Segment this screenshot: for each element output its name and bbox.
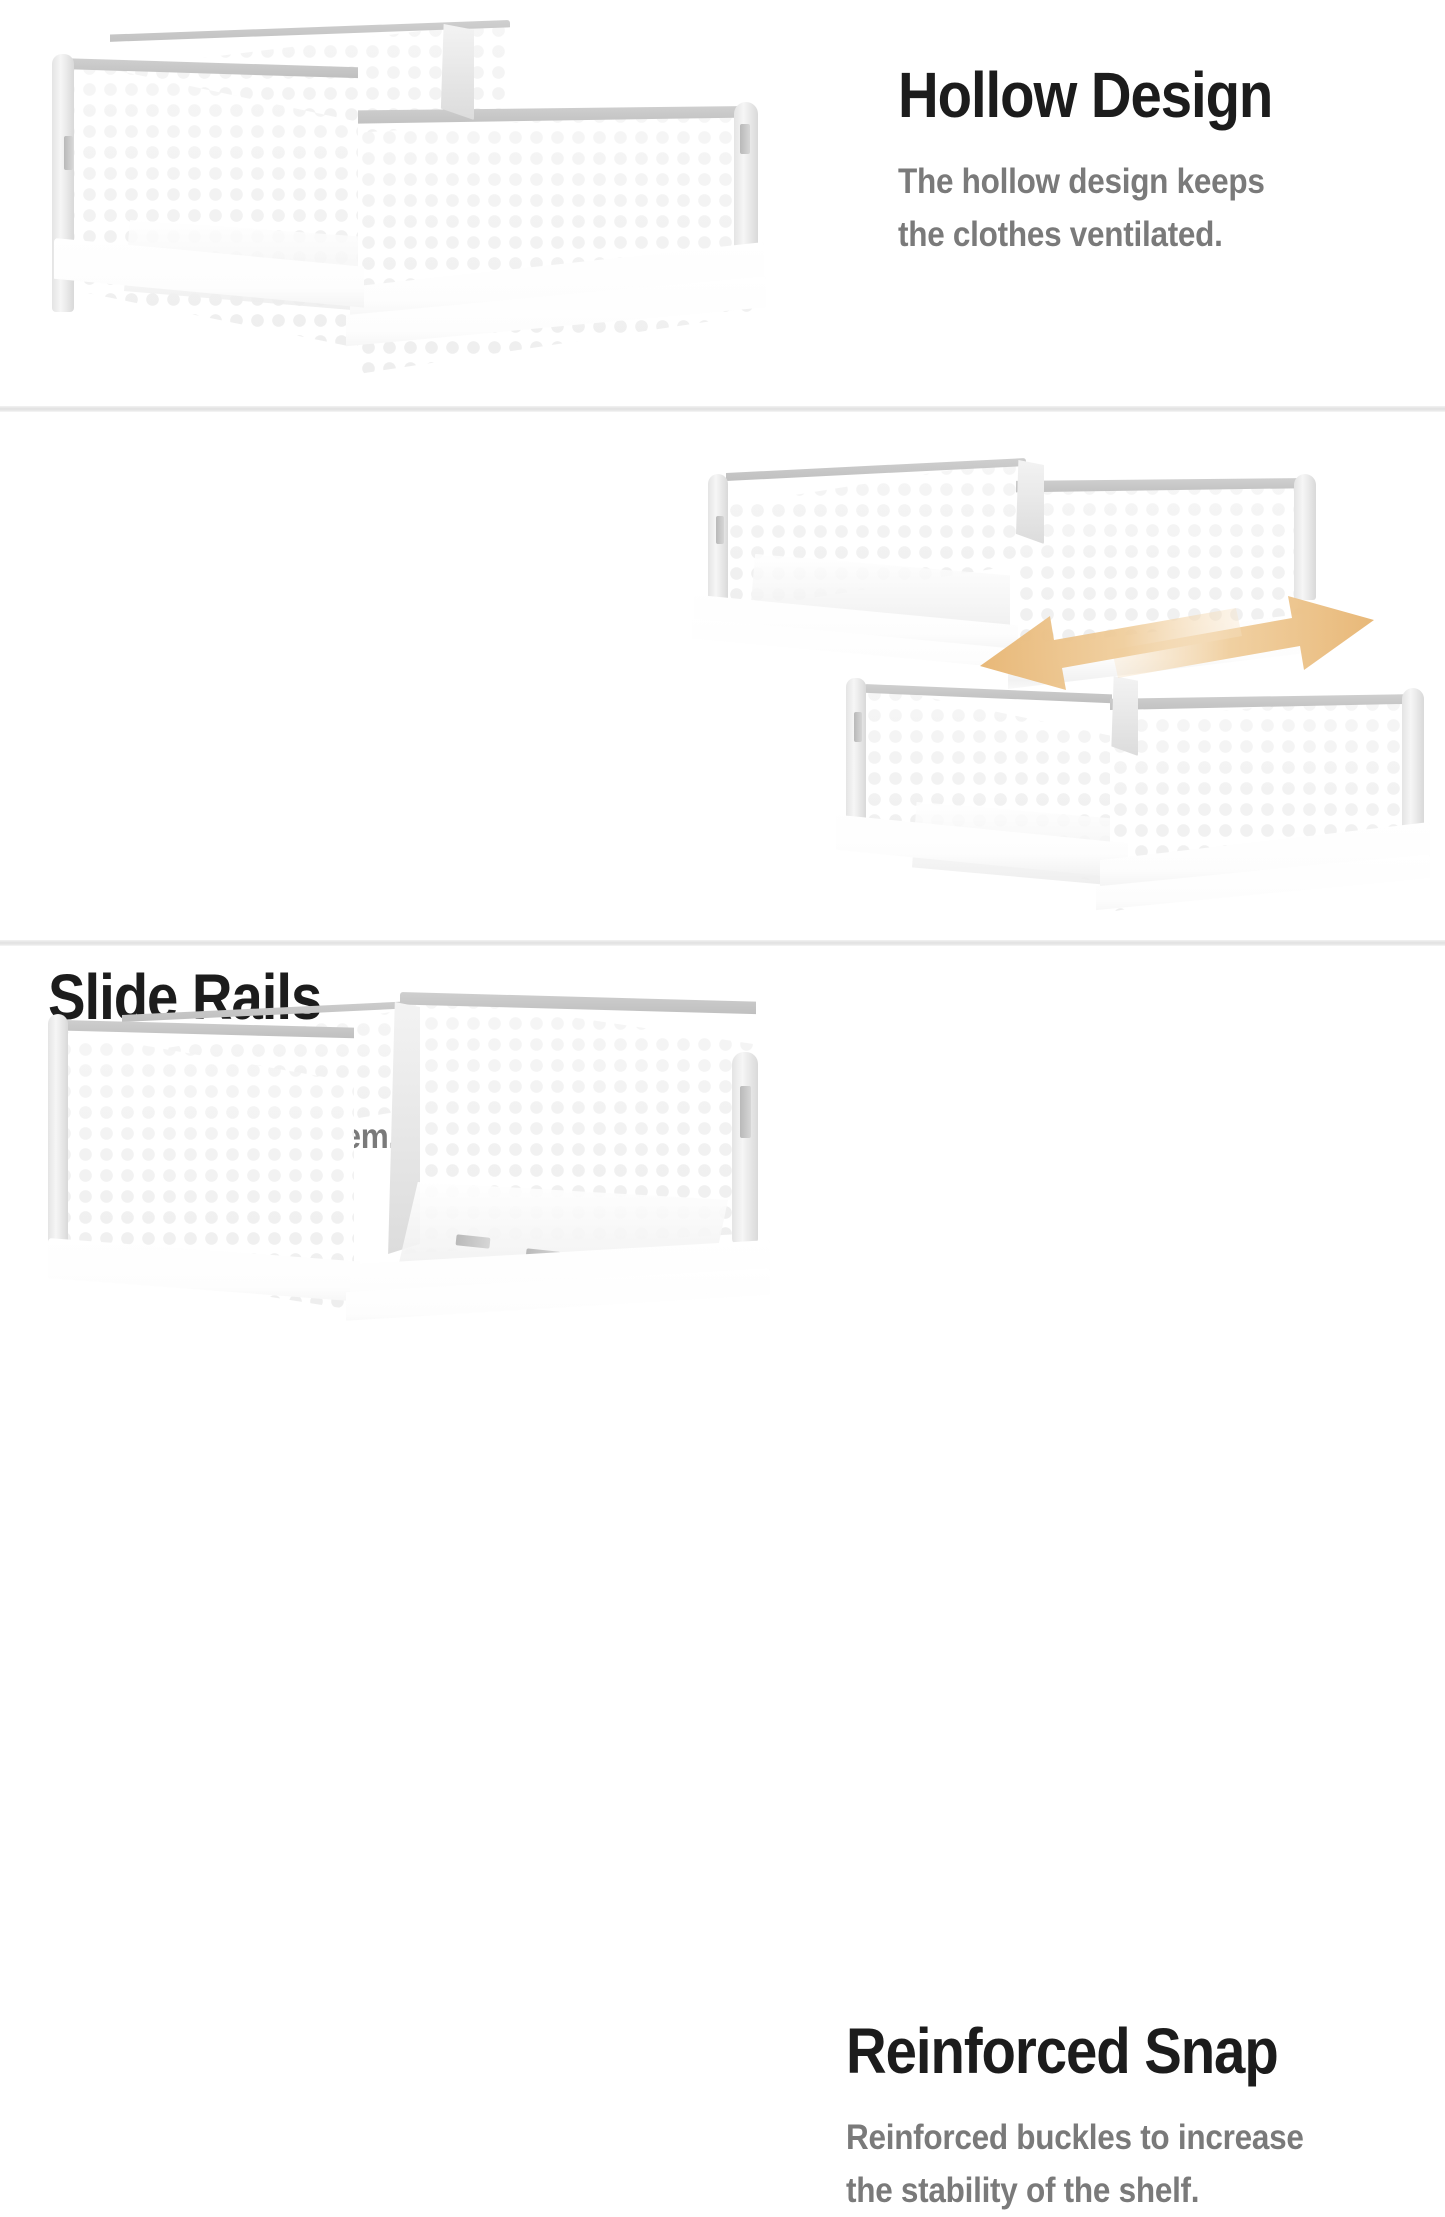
body-line-1: The hollow design keeps <box>898 155 1384 208</box>
body-line-2: the stability of the shelf. <box>846 2164 1386 2217</box>
body-hollow-design: The hollow design keeps the clothes vent… <box>898 155 1384 261</box>
lower-basket-buckle-left <box>854 712 862 742</box>
reinforced-buckle-left <box>64 136 73 170</box>
upper-basket-buckle-left <box>716 516 724 544</box>
text-block-reinforced-snap: Reinforced Snap Reinforced buckles to in… <box>846 2018 1445 2217</box>
headline-hollow-design: Hollow Design <box>898 62 1373 129</box>
body-line-2: the clothes ventilated. <box>898 208 1384 261</box>
panel-slide-rails: Slide Rails Stable stacking and easy sli… <box>0 416 1445 940</box>
upper-basket-left-post <box>708 474 728 614</box>
text-block-hollow-design: Hollow Design The hollow design keeps th… <box>898 62 1438 261</box>
slide-direction-arrow <box>962 558 1390 728</box>
reinforced-buckle-right <box>740 124 750 154</box>
body-line-1: Reinforced buckles to increase <box>846 2111 1386 2164</box>
snap-basket-left-post <box>48 1014 68 1264</box>
headline-reinforced-snap: Reinforced Snap <box>846 2018 1374 2085</box>
lower-basket-right-post <box>1402 688 1424 840</box>
product-image-slide-rails <box>686 436 1442 906</box>
panel-hollow-design: Hollow Design The hollow design keeps th… <box>0 0 1445 406</box>
body-reinforced-snap: Reinforced buckles to increase the stabi… <box>846 2111 1386 2217</box>
panel-reinforced-snap: Reinforced Snap Reinforced buckles to in… <box>0 950 1445 1358</box>
snap-basket-right-post <box>732 1052 758 1244</box>
product-image-hollow-design <box>28 6 798 398</box>
product-image-reinforced-snap <box>26 968 796 1346</box>
product-infographic: Hollow Design The hollow design keeps th… <box>0 0 1445 1358</box>
panel-divider-1 <box>0 406 1445 412</box>
reinforced-buckle-snap <box>740 1086 751 1138</box>
panel-divider-2 <box>0 940 1445 946</box>
